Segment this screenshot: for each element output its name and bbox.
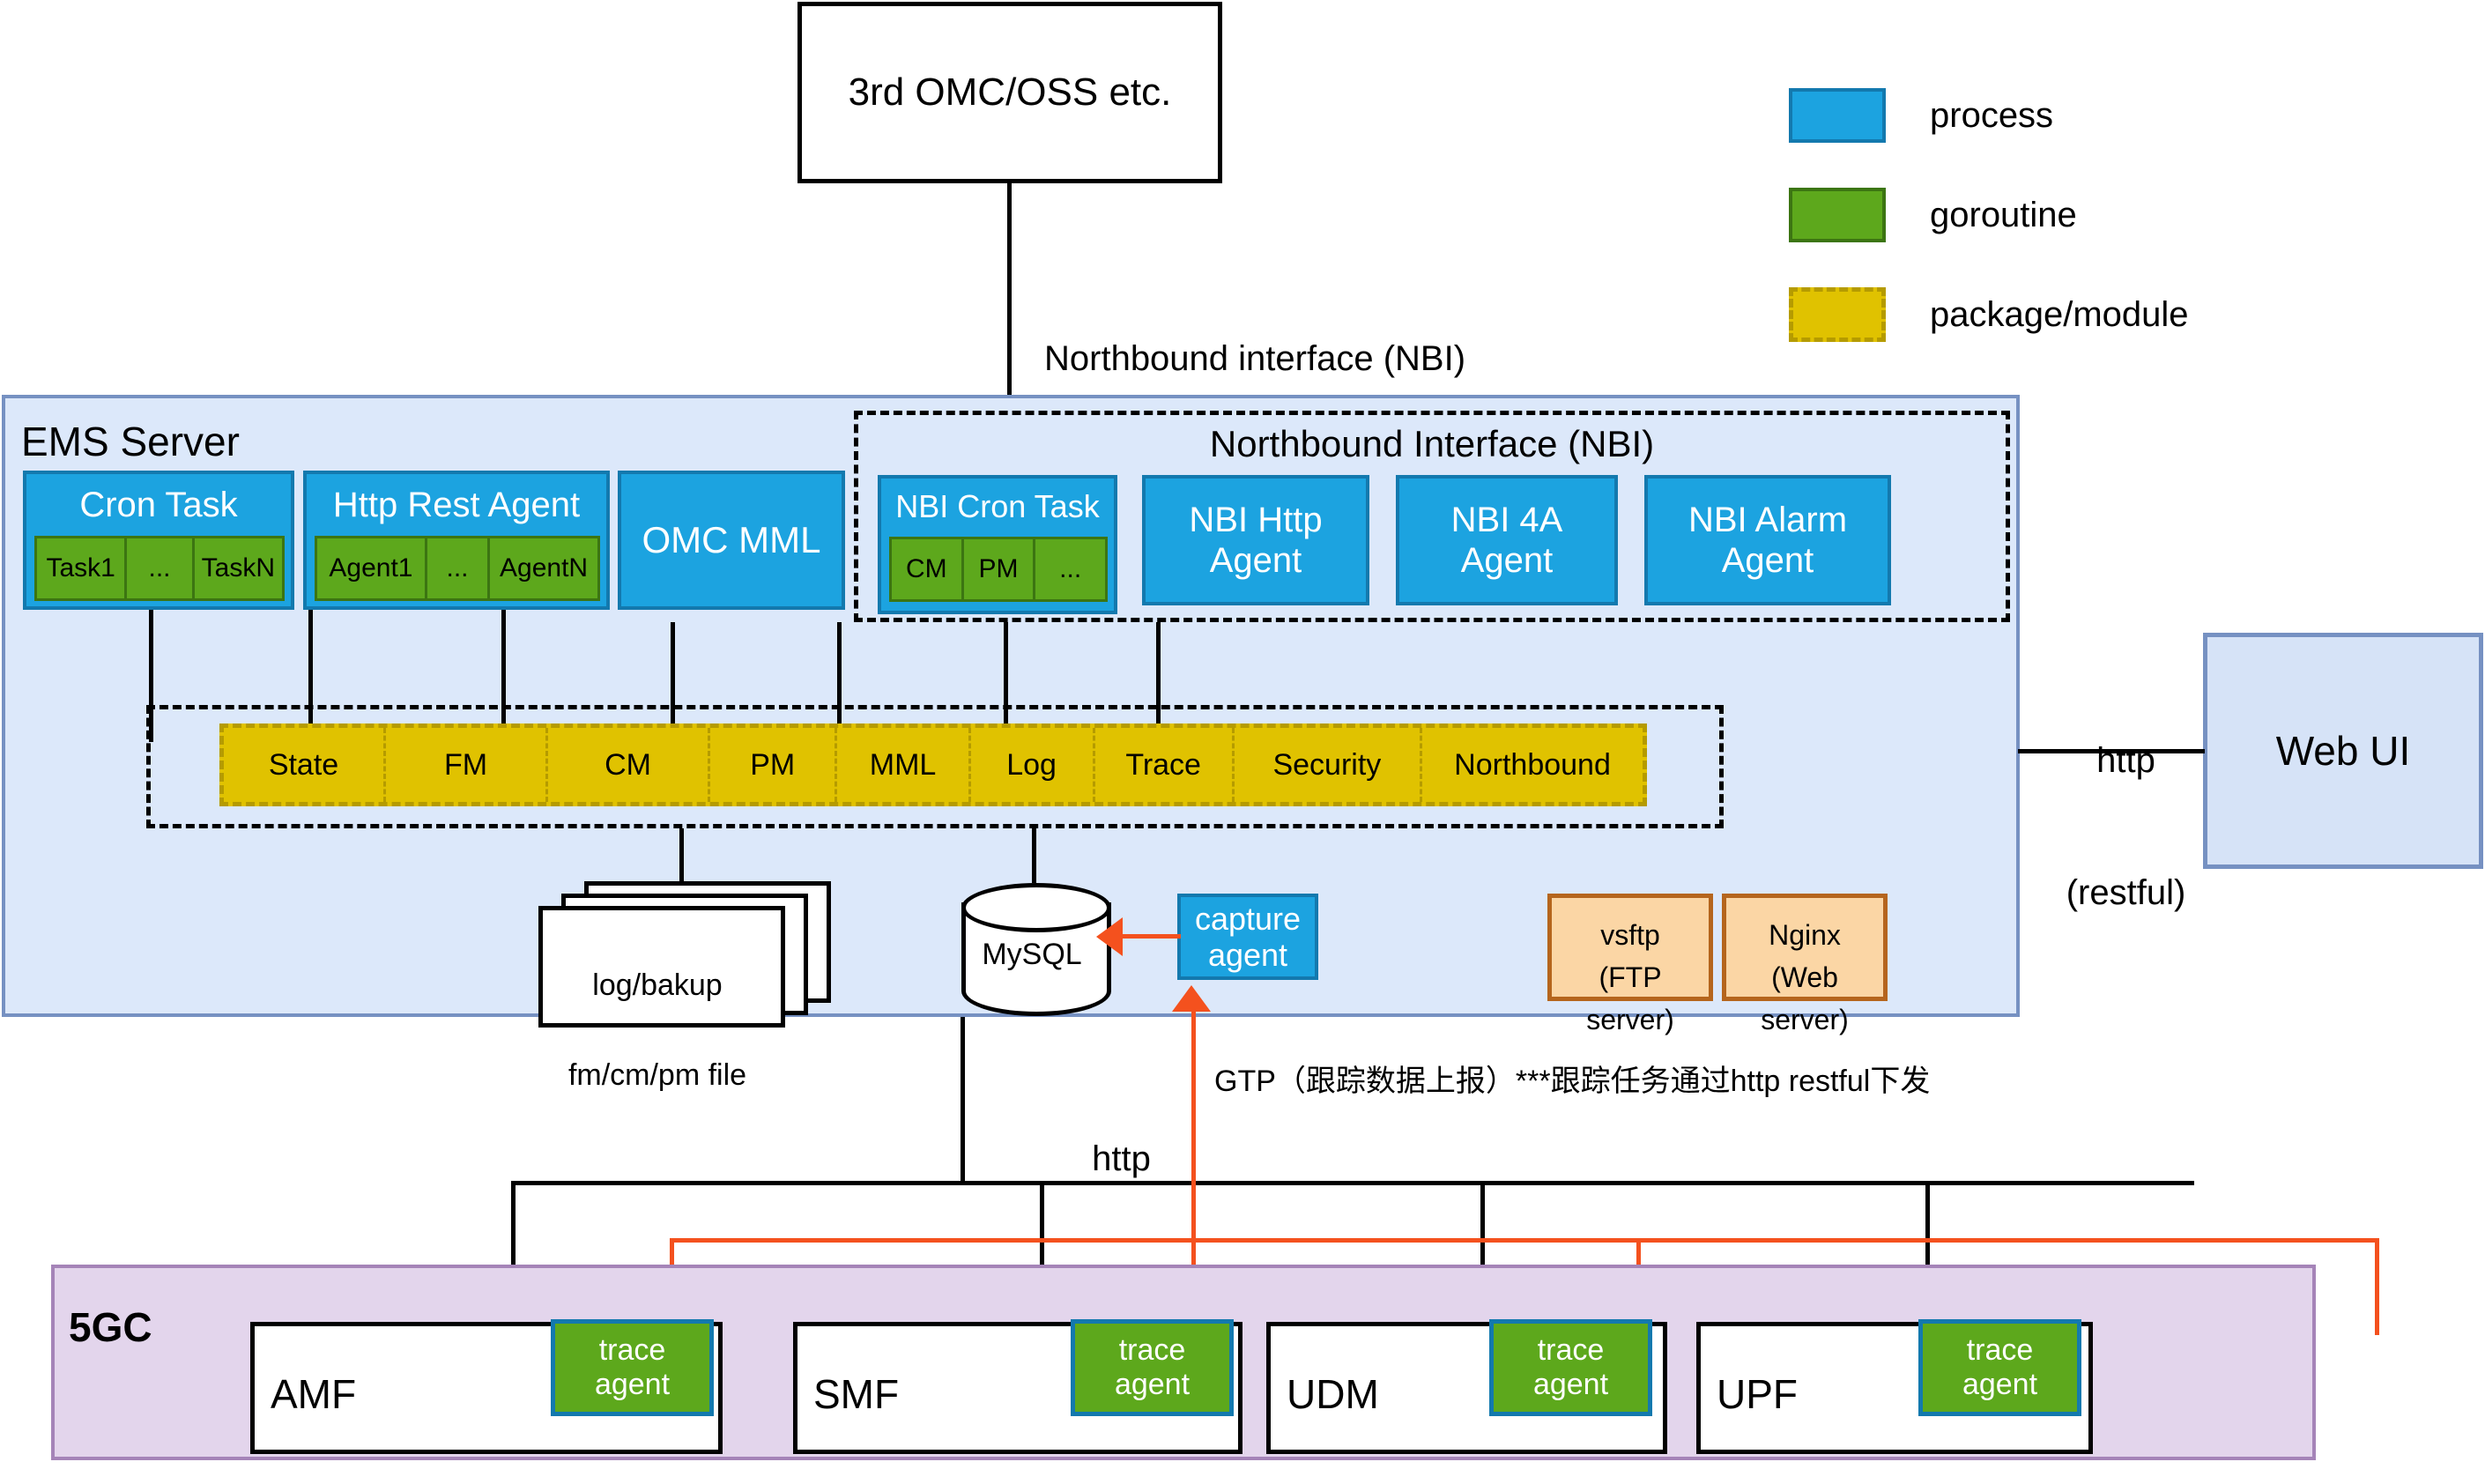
file-store-label: log/bakup fm/cm/pm file	[538, 918, 776, 1143]
legend-label-module: package/module	[1930, 287, 2189, 342]
mysql-label: MySQL	[961, 938, 1102, 972]
nbi-group-title: Northbound Interface (NBI)	[858, 422, 2006, 466]
nf-bus-horizontal	[511, 1181, 2194, 1185]
trace-agent-upf-label: trace agent	[1962, 1333, 2037, 1402]
process-capture-agent[interactable]: capture agent	[1177, 894, 1318, 980]
nbi-group: Northbound Interface (NBI) NBI Cron Task…	[854, 411, 2010, 622]
trace-agent-udm-label: trace agent	[1533, 1333, 1608, 1402]
module-pm[interactable]: PM	[710, 728, 837, 802]
gtp-trunk-arrowhead	[1172, 985, 1211, 1012]
gtp-note-label: GTP（跟踪数据上报）***跟踪任务通过http restful下发	[1214, 1063, 1930, 1101]
mysql-database[interactable]: MySQL	[961, 883, 1102, 1012]
ems-to-5gc-trunk	[961, 1017, 965, 1181]
web-ui-link-label: http (restful)	[2049, 650, 2203, 1003]
capture-to-mysql-arrowhead	[1096, 917, 1123, 956]
server-nginx-line1: Nginx	[1726, 914, 1883, 956]
connector-module-to-filestore	[679, 828, 684, 885]
legend-item-module: package/module	[1789, 287, 2318, 342]
nbi-link-line1: Northbound interface (NBI)	[1044, 337, 1465, 381]
process-nbi-4a-agent[interactable]: NBI 4A Agent	[1396, 475, 1618, 605]
process-nbi-alarm-agent[interactable]: NBI Alarm Agent	[1644, 475, 1891, 605]
trace-bus-horizontal	[670, 1238, 2379, 1243]
process-omc-mml-label: OMC MML	[642, 519, 821, 561]
goroutine-row-cron-task: Task1 ... TaskN	[34, 536, 285, 601]
server-nginx-label: Nginx (Web server)	[1726, 914, 1883, 1041]
process-nbi-http-agent[interactable]: NBI Http Agent	[1142, 475, 1369, 605]
middle-http-line1: http	[1044, 1137, 1198, 1181]
trace-agent-amf-label: trace agent	[595, 1333, 670, 1402]
process-capture-agent-label: capture agent	[1195, 901, 1301, 974]
goroutine-item[interactable]: AgentN	[490, 536, 600, 601]
trace-agent-smf[interactable]: trace agent	[1071, 1319, 1234, 1416]
file-store-line1: log/bakup	[538, 963, 776, 1008]
module-fm[interactable]: FM	[386, 728, 548, 802]
fivegc-title: 5GC	[69, 1303, 152, 1351]
ems-server-panel: EMS Server Cron Task Task1 ... TaskN Htt…	[2, 395, 2020, 1017]
legend-label-goroutine: goroutine	[1930, 188, 2077, 242]
trace-agent-udm[interactable]: trace agent	[1489, 1319, 1652, 1416]
nf-amf-label: AMF	[271, 1370, 356, 1418]
module-trace[interactable]: Trace	[1095, 728, 1235, 802]
file-store-stack[interactable]: log/bakup fm/cm/pm file	[538, 881, 829, 1013]
goroutine-item[interactable]: Agent1	[315, 536, 427, 601]
process-nbi-http-agent-label: NBI Http Agent	[1189, 500, 1322, 581]
server-nginx-line2: (Web server)	[1726, 956, 1883, 1041]
ems-server-title: EMS Server	[21, 418, 240, 465]
process-http-rest-agent-label: Http Rest Agent	[307, 479, 606, 531]
process-cron-task[interactable]: Cron Task Task1 ... TaskN	[23, 471, 294, 610]
module-state[interactable]: State	[224, 728, 386, 802]
nf-smf-label: SMF	[813, 1370, 899, 1418]
trace-drop-upf	[2375, 1238, 2379, 1335]
trace-agent-smf-label: trace agent	[1115, 1333, 1190, 1402]
goroutine-row-http-rest-agent: Agent1 ... AgentN	[315, 536, 600, 601]
process-http-rest-agent[interactable]: Http Rest Agent Agent1 ... AgentN	[303, 471, 610, 610]
process-nbi-alarm-agent-label: NBI Alarm Agent	[1688, 500, 1847, 581]
process-nbi-4a-agent-label: NBI 4A Agent	[1451, 500, 1563, 581]
gtp-trunk-to-capture-agent	[1191, 1010, 1196, 1243]
goroutine-item[interactable]: PM	[964, 537, 1036, 602]
web-ui-link-line2: (restful)	[2049, 871, 2203, 915]
trace-agent-upf[interactable]: trace agent	[1918, 1319, 2081, 1416]
server-vsftp-label: vsftp (FTP server)	[1552, 914, 1709, 1041]
goroutine-item[interactable]: TaskN	[195, 536, 285, 601]
module-cm[interactable]: CM	[548, 728, 710, 802]
web-ui-link-line1: http	[2049, 738, 2203, 783]
server-nginx[interactable]: Nginx (Web server)	[1722, 894, 1888, 1001]
legend-item-process: process	[1789, 88, 2318, 143]
web-ui-box[interactable]: Web UI	[2203, 633, 2483, 869]
goroutine-item[interactable]: ...	[127, 536, 194, 601]
process-nbi-cron-task[interactable]: NBI Cron Task CM PM ...	[878, 475, 1117, 614]
web-ui-label: Web UI	[2276, 728, 2411, 775]
legend-label-process: process	[1930, 88, 2053, 143]
process-cron-task-label: Cron Task	[26, 479, 291, 531]
goroutine-row-nbi-cron-task: CM PM ...	[889, 537, 1108, 602]
nf-upf-label: UPF	[1717, 1370, 1798, 1418]
server-vsftp-line2: (FTP server)	[1552, 956, 1709, 1041]
capture-to-mysql-line	[1123, 934, 1181, 939]
goroutine-item[interactable]: Task1	[34, 536, 127, 601]
mysql-cylinder-top	[961, 883, 1111, 932]
legend: process goroutine package/module	[1789, 88, 2335, 317]
goroutine-item[interactable]: CM	[889, 537, 964, 602]
module-bar: State FM CM PM MML Log Trace Security No…	[219, 723, 1647, 806]
legend-item-goroutine: goroutine	[1789, 188, 2318, 242]
trace-agent-amf[interactable]: trace agent	[551, 1319, 714, 1416]
server-vsftp[interactable]: vsftp (FTP server)	[1547, 894, 1713, 1001]
legend-swatch-process	[1789, 88, 1886, 143]
goroutine-item[interactable]: ...	[1035, 537, 1108, 602]
legend-swatch-goroutine	[1789, 188, 1886, 242]
nf-udm-label: UDM	[1287, 1370, 1379, 1418]
third-party-oss-box[interactable]: 3rd OMC/OSS etc.	[797, 2, 1222, 183]
process-omc-mml[interactable]: OMC MML	[618, 471, 845, 610]
third-party-oss-label: 3rd OMC/OSS etc.	[849, 70, 1172, 115]
server-vsftp-line1: vsftp	[1552, 914, 1709, 956]
module-northbound[interactable]: Northbound	[1422, 728, 1643, 802]
module-mml[interactable]: MML	[837, 728, 970, 802]
module-security[interactable]: Security	[1235, 728, 1422, 802]
diagram-canvas: process goroutine package/module 3rd OMC…	[0, 0, 2485, 1484]
module-log[interactable]: Log	[971, 728, 1095, 802]
legend-swatch-module	[1789, 287, 1886, 342]
oss-to-ems-link	[1007, 182, 1012, 397]
connector-module-to-mysql	[1032, 828, 1036, 883]
goroutine-item[interactable]: ...	[427, 536, 490, 601]
process-nbi-cron-task-label: NBI Cron Task	[881, 482, 1114, 531]
file-store-line2: fm/cm/pm file	[538, 1053, 776, 1098]
